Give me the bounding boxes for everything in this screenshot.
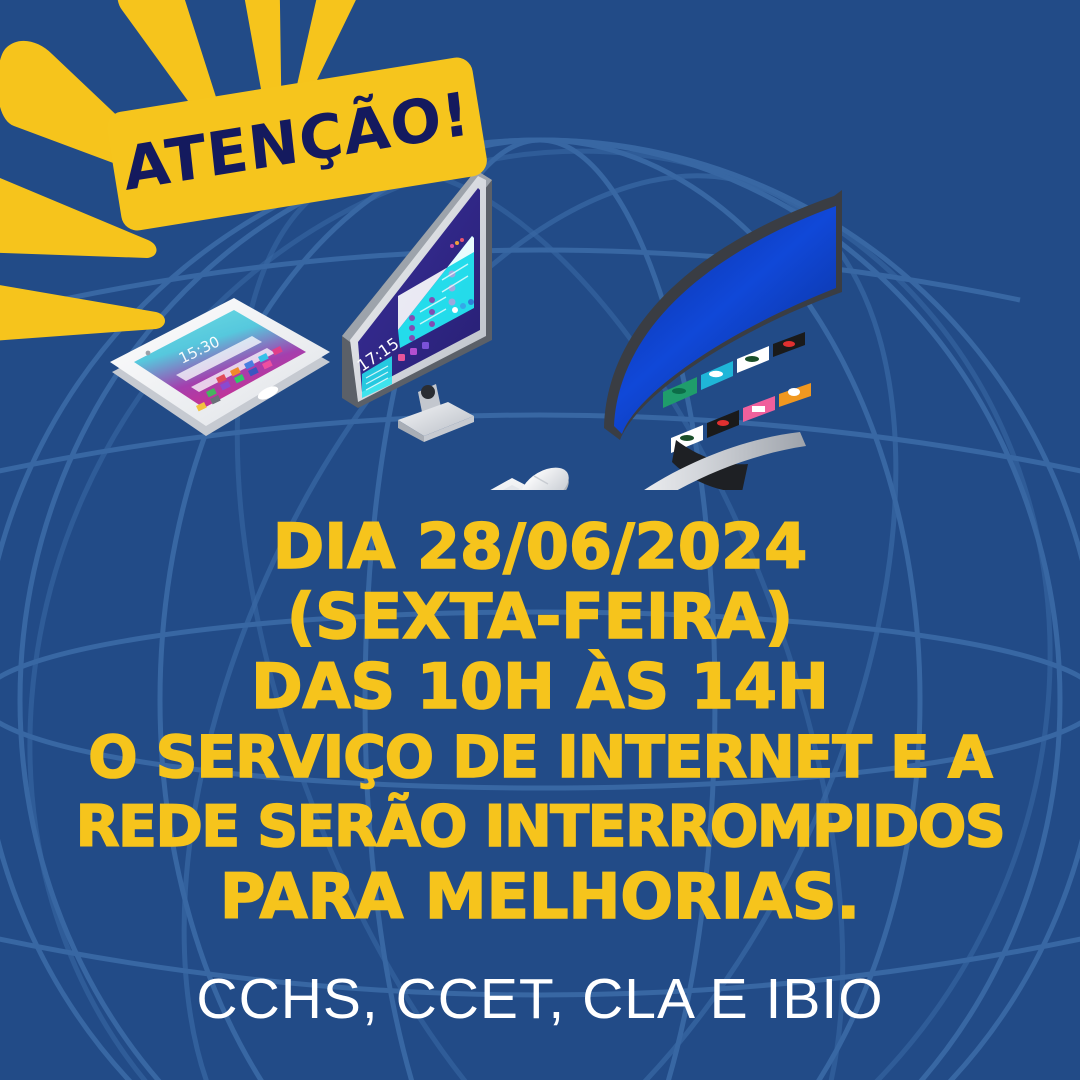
- footer-units-label: CCHS, CCET, CLA E IBIO: [0, 966, 1080, 1032]
- curved-smart-tv-icon: [596, 190, 842, 490]
- poster-canvas: 15:30: [0, 0, 1080, 1080]
- tv-app-tiles-row-2: [671, 383, 811, 453]
- tablet-icon: 15:30: [110, 298, 330, 436]
- tv-app-tiles-row-1: [663, 332, 805, 408]
- mouse-icon: [515, 460, 575, 490]
- desktop-computer-icon: 17:15: [342, 170, 492, 442]
- svg-text:15:30: 15:30: [176, 332, 223, 367]
- headline-line-1: DIA 28/06/2024: [0, 512, 1080, 582]
- attention-badge-label: ATENÇÃO!: [108, 55, 486, 234]
- headline-line-3: DAS 10H ÀS 14H: [0, 652, 1080, 722]
- attention-badge: ATENÇÃO!: [105, 55, 489, 233]
- headline-line-4: O SERVIÇO DE INTERNET E A: [0, 722, 1080, 792]
- headline-line-2: (SEXTA-FEIRA): [0, 582, 1080, 652]
- keyboard-icon: [404, 478, 566, 490]
- headline-block: DIA 28/06/2024 (SEXTA-FEIRA) DAS 10H ÀS …: [0, 512, 1080, 932]
- headline-line-6: PARA MELHORIAS.: [0, 862, 1080, 932]
- svg-text:17:15: 17:15: [354, 334, 403, 376]
- headline-line-5: REDE SERÃO INTERROMPIDOS: [0, 792, 1080, 862]
